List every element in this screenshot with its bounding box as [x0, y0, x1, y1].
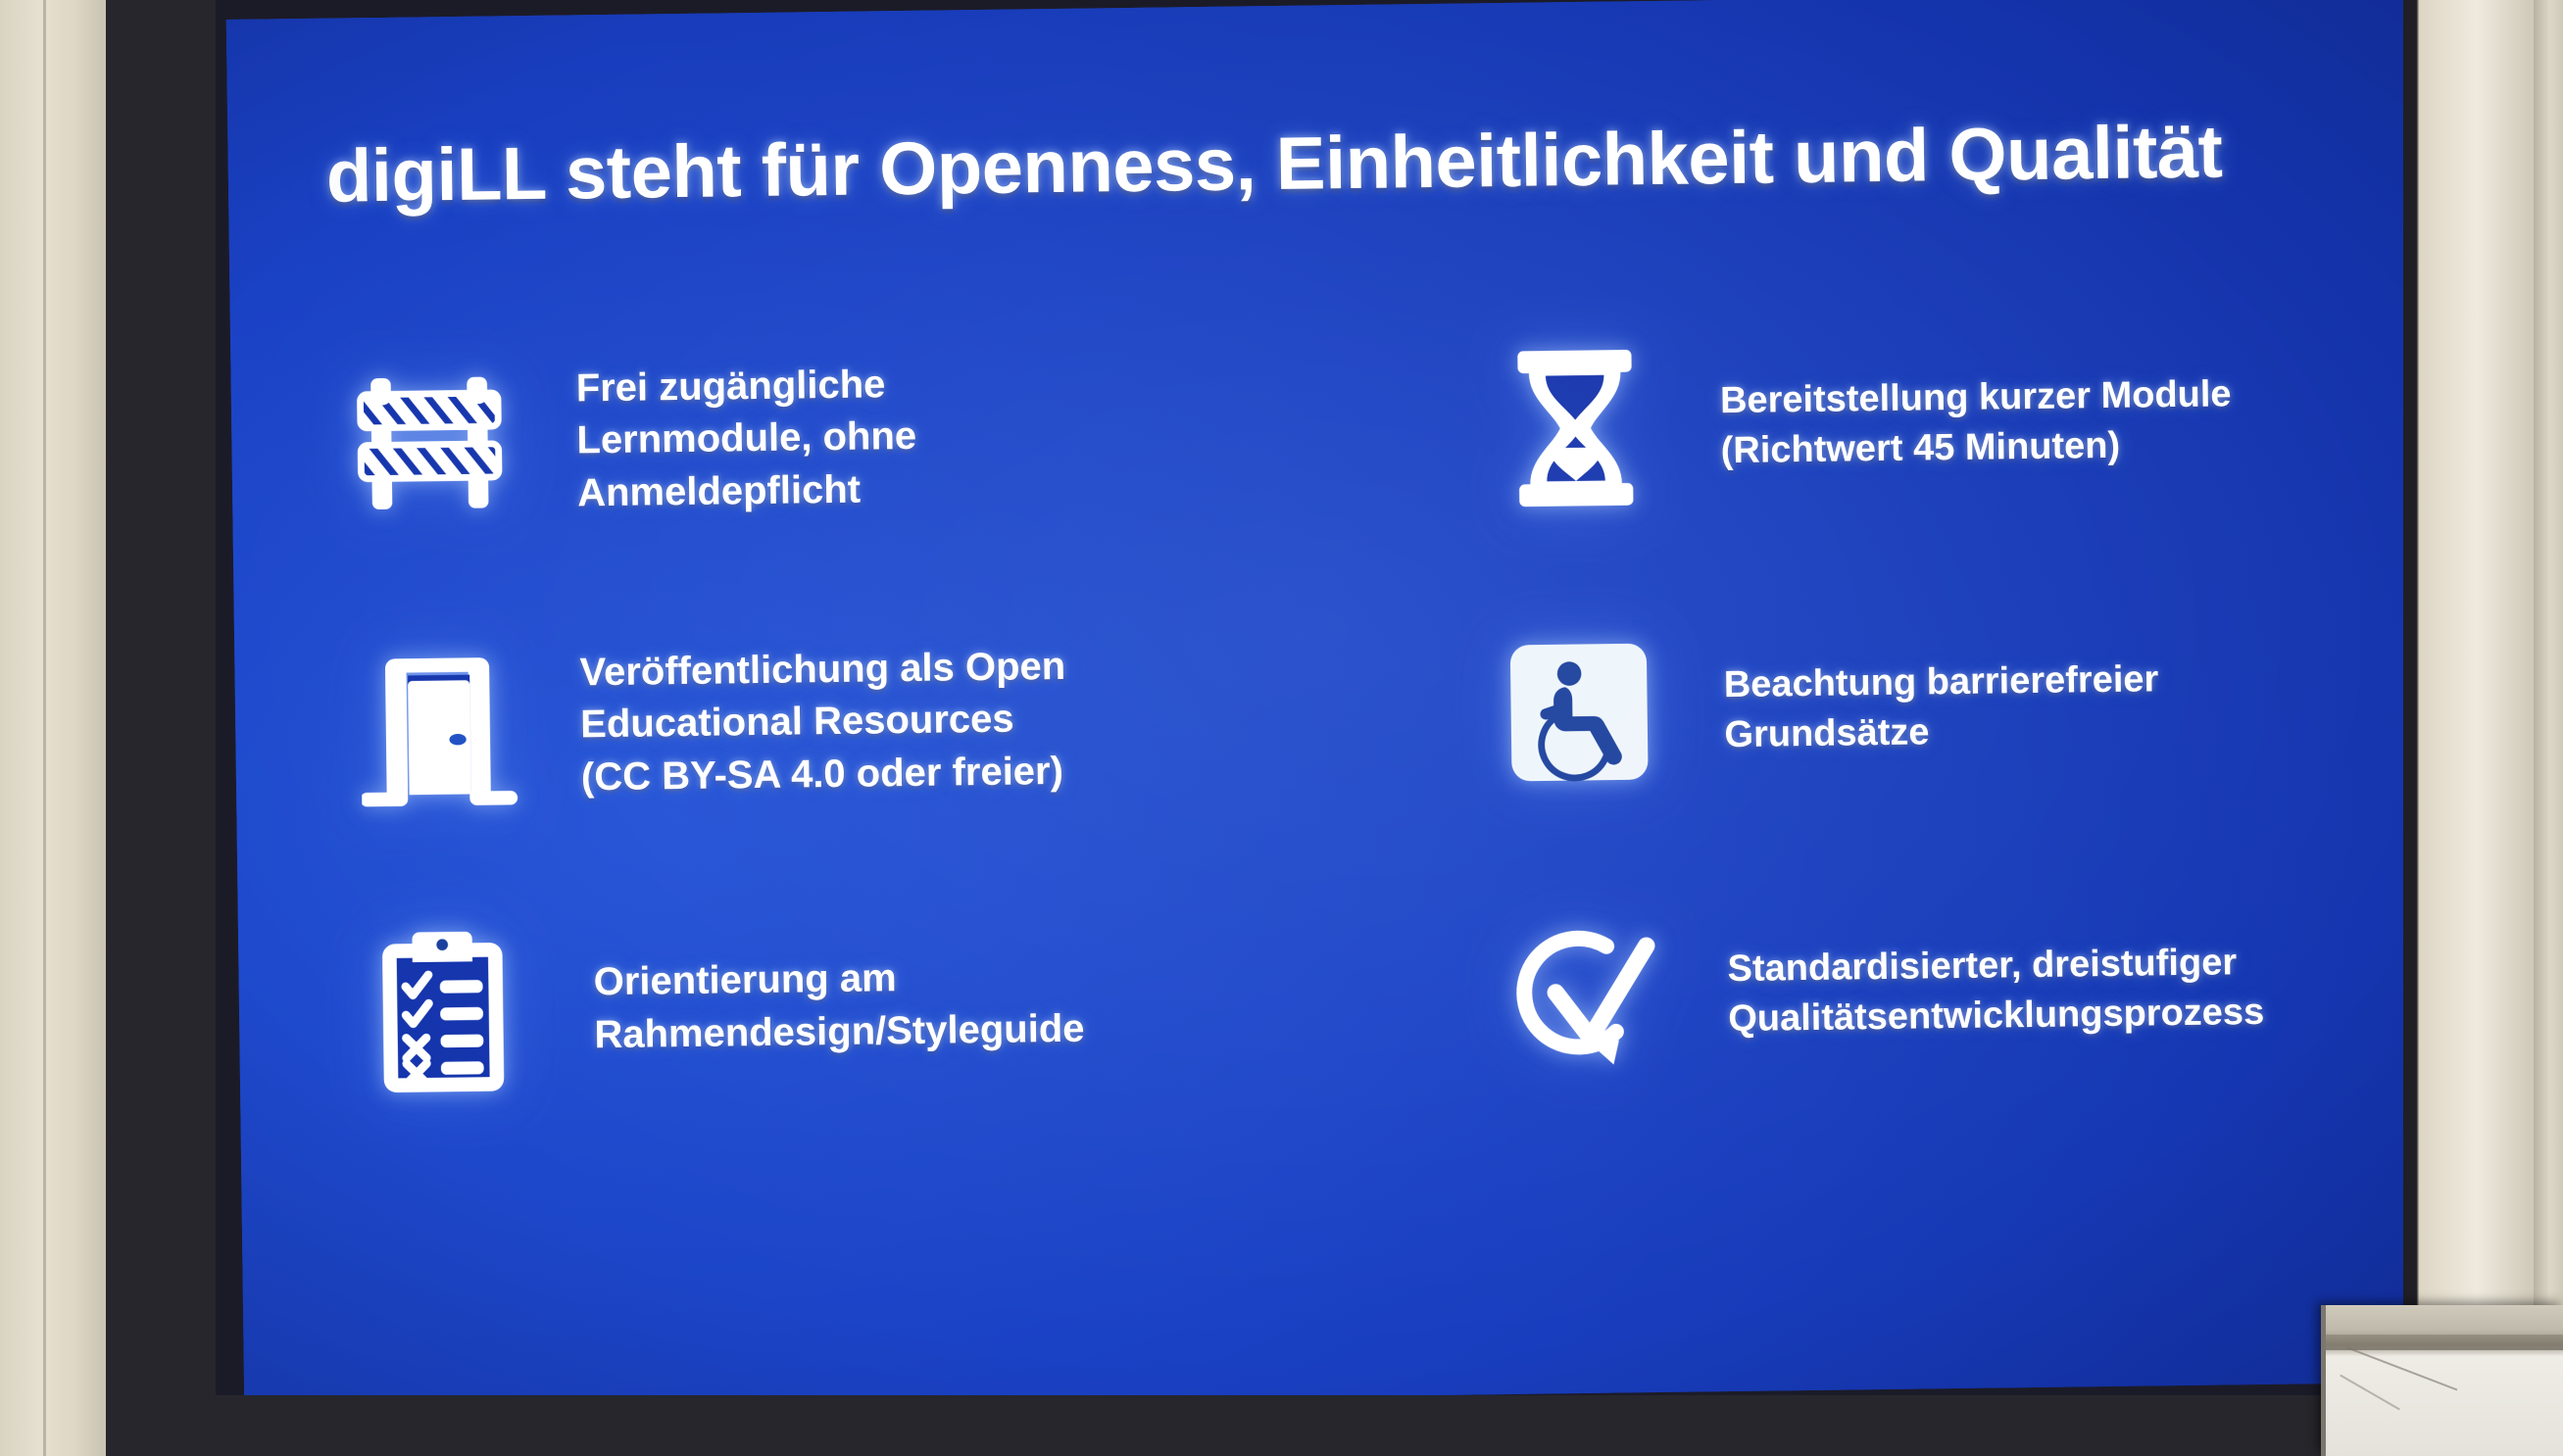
feature-item-label: Standardisierter, dreistufigerQualitätse…	[1727, 938, 2264, 1044]
wall-left	[0, 0, 106, 1456]
feature-item-barrierefrei: Beachtung barrierefreierGrundsätze	[1452, 558, 2529, 855]
wheelchair-accessibility-icon	[1480, 618, 1678, 807]
slide-title: digiLL steht für Openness, Einheitlichke…	[325, 108, 2463, 218]
feature-item-label: Orientierung amRahmendesign/Styleguide	[593, 950, 1084, 1062]
feature-item-label: Bereitstellung kurzer Module(Richtwert 4…	[1720, 369, 2233, 476]
projection-screen-frame: digiLL steht für Openness, Einheitlichke…	[106, 0, 2537, 1456]
wall-seam	[43, 0, 46, 1456]
feature-item-label: Frei zugänglicheLernmodule, ohneAnmeldep…	[575, 358, 917, 519]
projection-screen-surface: digiLL steht für Openness, Einheitlichke…	[216, 0, 2563, 1395]
feature-item-label: Beachtung barrierefreierGrundsätze	[1724, 655, 2160, 760]
feature-item-bereitstellung: Bereitstellung kurzer Module(Richtwert 4…	[1449, 273, 2526, 571]
open-door-icon	[340, 633, 538, 822]
whiteboard-foreground	[2321, 1305, 2563, 1456]
whiteboard-crease-secondary	[2340, 1375, 2400, 1411]
feature-item-label: Veröffentlichung als OpenEducational Res…	[579, 640, 1067, 803]
road-barrier-icon	[336, 349, 534, 538]
feature-item-frei-zugaengliche: Frei zugänglicheLernmodule, ohneAnmeldep…	[336, 288, 1413, 586]
clipboard-checklist-icon	[344, 917, 542, 1106]
wall-right-upper	[2403, 0, 2537, 1313]
room-photo: digiLL steht für Openness, Einheitlichke…	[0, 0, 2563, 1456]
wall-right	[2534, 0, 2563, 1456]
feature-grid: Frei zugänglicheLernmodule, ohneAnmeldep…	[336, 273, 2533, 1154]
feature-item-qualitaetsprozess: Standardisierter, dreistufigerQualitätse…	[1455, 842, 2533, 1140]
slide-body: digiLL steht für Openness, Einheitlichke…	[226, 0, 2563, 1395]
feature-item-veroeffentlichung: Veröffentlichung als OpenEducational Res…	[339, 572, 1416, 870]
feature-item-orientierung: Orientierung amRahmendesign/Styleguide	[343, 856, 1420, 1154]
hourglass-icon	[1476, 334, 1674, 523]
presentation-slide: digiLL steht für Openness, Einheitlichke…	[226, 0, 2563, 1395]
whiteboard-rail	[2326, 1335, 2563, 1350]
circular-arrow-checkmark-icon	[1484, 902, 1682, 1092]
whiteboard-crease	[2347, 1347, 2458, 1391]
